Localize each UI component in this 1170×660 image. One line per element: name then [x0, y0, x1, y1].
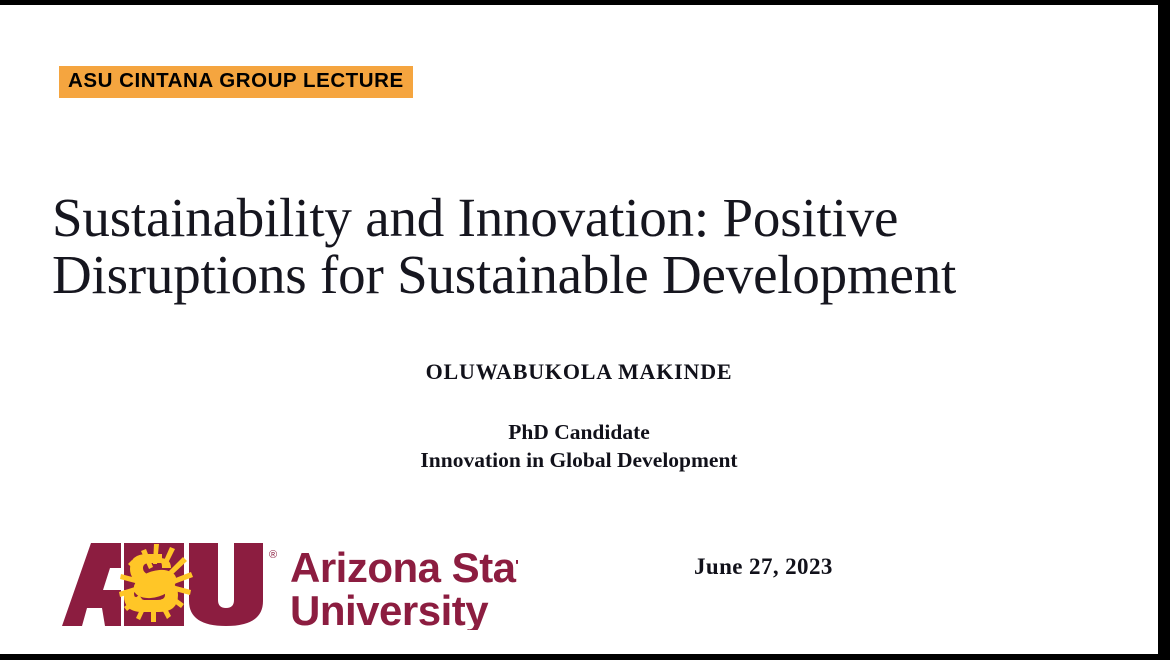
presenter-block: OLUWABUKOLA MAKINDE PhD Candidate Innova…	[0, 358, 1158, 474]
slide-frame-right-bar	[1158, 0, 1170, 660]
registered-trademark-icon: ®	[269, 549, 277, 561]
asu-logo: ® Arizona State University	[58, 538, 518, 630]
slide-title-line-1: Sustainability and Innovation: Positive	[52, 189, 1062, 246]
slide-title-line-2: Disruptions for Sustainable Development	[52, 246, 1062, 303]
asu-wordmark-line-2: University	[290, 587, 489, 630]
presentation-slide: ASU CINTANA GROUP LECTURE Sustainability…	[0, 0, 1170, 660]
presenter-role-title: PhD Candidate	[0, 418, 1158, 446]
asu-wordmark-line-1: Arizona State	[290, 544, 518, 591]
presenter-program: Innovation in Global Development	[0, 446, 1158, 474]
presenter-affiliation: PhD Candidate Innovation in Global Devel…	[0, 418, 1158, 475]
slide-frame-top-bar	[0, 0, 1170, 5]
asu-logo-svg: ® Arizona State University	[58, 538, 518, 630]
slide-title: Sustainability and Innovation: Positive …	[52, 189, 1062, 303]
slide-frame-bottom-bar	[0, 654, 1170, 660]
slide-kicker-container: ASU CINTANA GROUP LECTURE	[59, 66, 413, 98]
slide-kicker-label: ASU CINTANA GROUP LECTURE	[59, 66, 413, 98]
slide-date: June 27, 2023	[694, 554, 833, 580]
presenter-name: OLUWABUKOLA MAKINDE	[0, 358, 1158, 386]
